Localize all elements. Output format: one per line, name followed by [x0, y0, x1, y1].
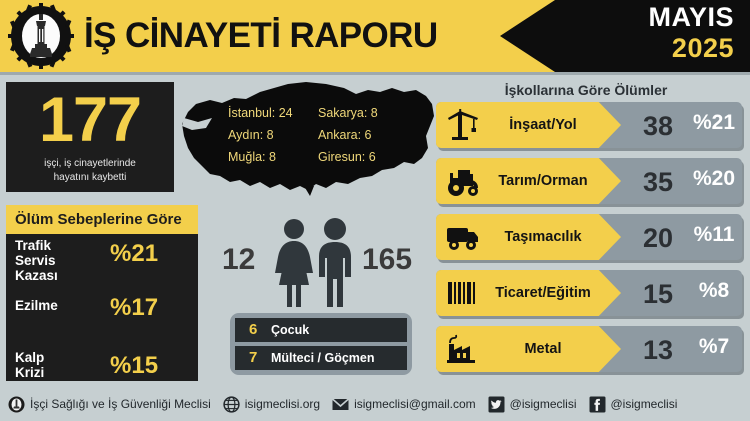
death-causes-panel: Ölüm Sebeplerine Göre Trafik Servis Kaza…	[6, 205, 198, 381]
sector-count: 20	[628, 214, 688, 262]
death-causes-heading: Ölüm Sebeplerine Göre	[6, 205, 198, 234]
sector-count: 38	[628, 102, 688, 150]
facebook-icon	[589, 396, 606, 413]
male-figure-icon	[319, 218, 351, 307]
cause-label-traffic-l1: Trafik	[15, 238, 51, 253]
cause-row-crush: Ezilme %17	[6, 294, 198, 338]
substat-row-children: 6 Çocuk	[235, 318, 407, 342]
city-item-2: Aydın: 8	[228, 127, 318, 144]
total-deaths-caption-line1: işçi, iş cinayetlerinde	[6, 157, 174, 171]
city-death-list: İstanbul: 24 Sakarya: 8 Aydın: 8 Ankara:…	[228, 105, 420, 166]
refugees-label: Mülteci / Göçmen	[271, 346, 375, 370]
twitter-icon	[488, 396, 505, 413]
sector-bar-tasimacilik: Taşımacılık 20 %11	[436, 214, 742, 264]
turkey-map: İstanbul: 24 Sakarya: 8 Aydın: 8 Ankara:…	[176, 78, 438, 206]
refugees-count: 7	[249, 346, 257, 370]
children-label: Çocuk	[271, 318, 309, 342]
infographic-poster: İŞ CİNAYETİ RAPORU MAYIS 2025 177 işçi, …	[0, 0, 750, 421]
footer-facebook[interactable]: @isigmeclisi	[589, 396, 678, 413]
city-item-1: Sakarya: 8	[318, 105, 410, 122]
report-year: 2025	[648, 35, 734, 62]
female-figure-icon	[275, 219, 313, 307]
truck-icon	[444, 220, 480, 254]
cause-label-traffic-l2: Servis	[15, 253, 56, 268]
globe-icon	[223, 396, 240, 413]
male-death-count: 165	[362, 242, 412, 278]
footer-org-text: İşçi Sağlığı ve İş Güvenliği Meclisi	[30, 397, 211, 411]
crane-icon	[444, 108, 480, 142]
cause-pct-heart-attack: %15	[110, 352, 158, 380]
page-title: İŞ CİNAYETİ RAPORU	[84, 10, 438, 62]
footer-bar: İşçi Sağlığı ve İş Güvenliği Meclisi isi…	[0, 387, 750, 421]
cause-label-heart-l1: Kalp	[15, 350, 44, 365]
sector-label: Metal	[484, 326, 602, 372]
cause-label-crush: Ezilme	[15, 298, 107, 313]
cause-label-traffic-l3: Kazası	[15, 268, 58, 283]
sector-bar-insaat-yol: İnşaat/Yol 38 %21	[436, 102, 742, 152]
female-death-count: 12	[222, 242, 255, 278]
cause-pct-traffic: %21	[110, 240, 158, 268]
tractor-icon	[444, 164, 480, 198]
footer-org: İşçi Sağlığı ve İş Güvenliği Meclisi	[8, 396, 211, 413]
footer-website[interactable]: isigmeclisi.org	[223, 396, 320, 413]
sector-percent: %20	[688, 158, 740, 200]
report-period: MAYIS 2025	[648, 4, 734, 62]
footer-twitter[interactable]: @isigmeclisi	[488, 396, 577, 413]
sector-bar-ticaret-egitim: Ticaret/Eğitim 15 %8	[436, 270, 742, 320]
sectors-heading: İşkollarına Göre Ölümler	[436, 82, 736, 98]
city-item-0: İstanbul: 24	[228, 105, 318, 122]
sector-percent: %7	[688, 326, 740, 368]
sector-percent: %11	[688, 214, 740, 256]
sector-bar-tarim-orman: Tarım/Orman 35 %20	[436, 158, 742, 208]
envelope-icon	[332, 396, 349, 413]
cause-label-heart-attack: Kalp Krizi	[15, 350, 107, 380]
sector-label: Ticaret/Eğitim	[484, 270, 602, 316]
sector-count: 15	[628, 270, 688, 318]
footer-facebook-text: @isigmeclisi	[611, 397, 678, 411]
footer-email[interactable]: isigmeclisi@gmail.com	[332, 396, 476, 413]
footer-website-text: isigmeclisi.org	[245, 397, 320, 411]
substat-row-refugees: 7 Mülteci / Göçmen	[235, 346, 407, 370]
sector-percent: %21	[688, 102, 740, 144]
total-deaths-panel: 177 işçi, iş cinayetlerinde hayatını kay…	[6, 82, 174, 192]
factory-icon	[444, 332, 480, 366]
cause-label-traffic: Trafik Servis Kazası	[15, 238, 107, 283]
cause-label-heart-l2: Krizi	[15, 365, 44, 380]
gender-figures	[270, 216, 362, 308]
sector-percent: %8	[688, 270, 740, 312]
children-count: 6	[249, 318, 257, 342]
city-item-5: Giresun: 6	[318, 149, 410, 166]
books-icon	[444, 276, 480, 310]
sector-label: Taşımacılık	[484, 214, 602, 260]
sector-label: İnşaat/Yol	[484, 102, 602, 148]
header-bar: İŞ CİNAYETİ RAPORU MAYIS 2025	[0, 0, 750, 72]
city-item-3: Ankara: 6	[318, 127, 410, 144]
total-deaths-caption-line2: hayatını kaybetti	[6, 171, 174, 185]
sector-bar-metal: Metal 13 %7	[436, 326, 742, 376]
header-divider	[0, 72, 750, 75]
sector-count: 35	[628, 158, 688, 206]
sector-label: Tarım/Orman	[484, 158, 602, 204]
cause-pct-crush: %17	[110, 294, 158, 322]
sub-stats-panel: 6 Çocuk 7 Mülteci / Göçmen	[230, 313, 412, 375]
sector-count: 13	[628, 326, 688, 374]
city-item-4: Muğla: 8	[228, 149, 318, 166]
total-deaths-value: 177	[6, 83, 174, 157]
footer-twitter-text: @isigmeclisi	[510, 397, 577, 411]
footer-email-text: isigmeclisi@gmail.com	[354, 397, 476, 411]
gender-breakdown: 12 165	[222, 216, 422, 308]
cause-row-traffic: Trafik Servis Kazası %21	[6, 238, 198, 290]
isig-logo-icon	[8, 396, 25, 413]
gear-lighthouse-logo-icon	[8, 3, 74, 69]
report-month: MAYIS	[648, 4, 734, 31]
